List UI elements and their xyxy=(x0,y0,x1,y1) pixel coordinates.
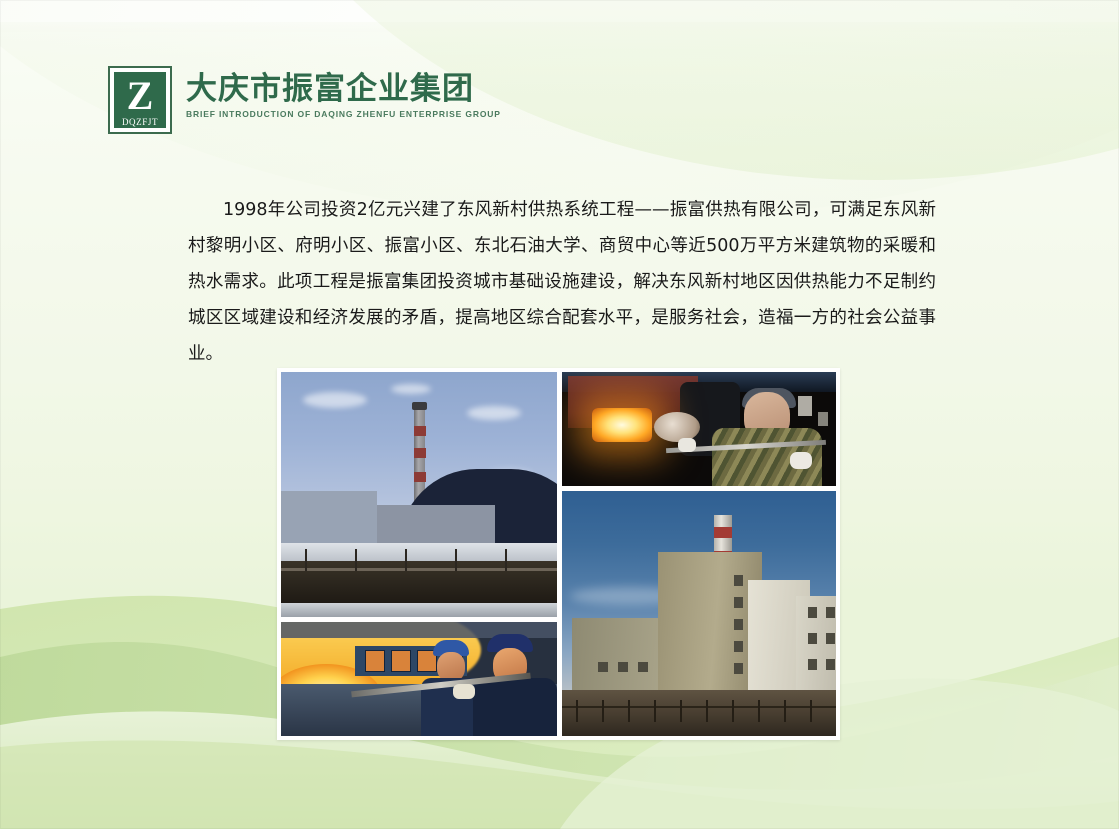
brochure-page: Z DQZFJT 大庆市振富企业集团 BRIEF INTRODUCTION OF… xyxy=(0,0,1119,829)
page-border xyxy=(0,0,1119,829)
